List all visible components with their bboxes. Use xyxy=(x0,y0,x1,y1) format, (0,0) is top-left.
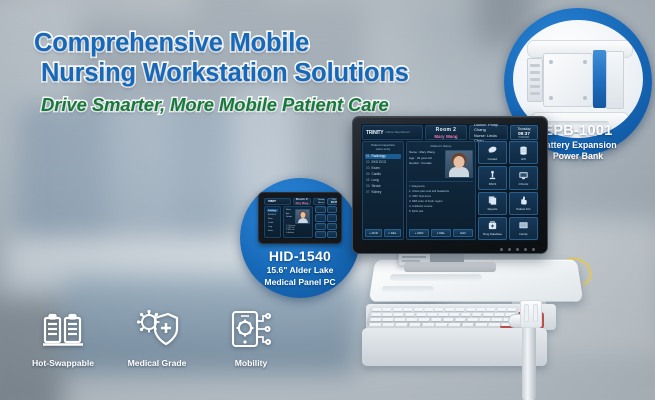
feature-label: Hot-Swappable xyxy=(32,358,94,368)
pill-bag-icon xyxy=(487,220,498,231)
headline-block: Comprehensive Mobile Nursing Workstation… xyxy=(34,28,454,116)
tile-drug-database[interactable]: Drug Database xyxy=(478,217,507,240)
product-desc-line-2: Medical Panel PC xyxy=(234,277,366,288)
history-del-button[interactable]: x DEL xyxy=(431,229,451,237)
product-badge-hid-1540: TRINITY Room 2 Mary Wang DoctorNurse Thu… xyxy=(240,178,360,298)
list-item[interactable]: 05Lung xyxy=(365,178,401,183)
history-add-button[interactable]: + ADD xyxy=(409,229,429,237)
staff-panel: Doctor: Philip Chang Nurse: Linda Chen xyxy=(469,125,508,140)
module-tile-grid: Contact HIS PACS Chronic xyxy=(478,141,538,240)
row-label: Lung xyxy=(372,178,379,182)
headline-subtitle: Drive Smarter, More Mobile Patient Care xyxy=(41,94,454,116)
product-code: HID-1540 xyxy=(234,248,366,264)
patient-photo xyxy=(445,150,473,178)
feature-medical-grade: Medical Grade xyxy=(121,306,193,368)
battery-module xyxy=(593,50,606,108)
row-number: 01 xyxy=(366,154,370,158)
virus-shield-icon xyxy=(135,306,179,352)
row-label: Kidney xyxy=(372,190,382,194)
tile-label: Contact xyxy=(488,157,498,161)
tile-reports[interactable]: Reports xyxy=(478,192,507,215)
microscope-icon xyxy=(487,170,498,181)
list-item[interactable]: 07Kidney xyxy=(365,190,401,195)
cart-drawer-base xyxy=(362,328,547,366)
room-number: Room 2 xyxy=(436,127,457,133)
row-label: Exam xyxy=(372,166,380,170)
marketing-banner: Comprehensive Mobile Nursing Workstation… xyxy=(0,0,655,400)
patient-field: Gender : Female xyxy=(409,161,442,165)
feature-label: Medical Grade xyxy=(128,358,187,368)
list-item[interactable]: 06Stroke xyxy=(365,184,401,189)
tile-chronic[interactable]: Chronic xyxy=(509,166,538,189)
clock-widget: Thursday 09:37 5/10/2021 xyxy=(510,125,538,140)
list-item[interactable]: 01Radiology xyxy=(365,154,401,159)
patient-field: Age : 32 year old xyxy=(409,156,442,160)
monitor-bezel: TRINITY Carbon Steel Record Room 2 Mary … xyxy=(352,116,548,254)
order-header-line-2: order entry xyxy=(365,148,401,152)
tile-label: Chronic xyxy=(519,182,529,186)
row-number: 05 xyxy=(366,178,370,182)
row-number: 07 xyxy=(366,190,370,194)
row-number: 02 xyxy=(366,160,370,164)
ui-header: TRINITY Carbon Steel Record Room 2 Mary … xyxy=(361,124,539,141)
diagnosis-item: 5. EKG test xyxy=(409,209,473,213)
tile-label: Patient Info xyxy=(516,207,530,211)
headline-line-1: Comprehensive Mobile xyxy=(34,28,454,58)
list-item[interactable]: 04Cardio xyxy=(365,172,401,177)
logo-tagline: Carbon Steel Record xyxy=(385,131,409,134)
diagnosis-item: 4. Antibiotic course xyxy=(409,204,473,208)
room-panel: Room 2 Mary Wang xyxy=(425,125,467,140)
patient-field: Name : Mary Wang xyxy=(409,150,442,154)
tile-label: Family xyxy=(519,232,527,236)
tablet-gear-icon xyxy=(229,306,273,352)
patient-history-panel: Patient's history Name : Mary Wang Age :… xyxy=(406,141,476,240)
tile-label: Drug Database xyxy=(483,232,502,236)
doctor-name: Doctor: Philip Chang xyxy=(474,124,507,132)
feature-hot-swappable: Hot-Swappable xyxy=(27,306,99,368)
row-number: 06 xyxy=(366,184,370,188)
patient-name: Mary Wang xyxy=(434,134,457,139)
patient-fields: Name : Mary Wang Age : 32 year old Gende… xyxy=(409,150,442,178)
hid-screen-preview: TRINITY Room 2 Mary Wang DoctorNurse Thu… xyxy=(263,197,337,239)
tile-label: HIS xyxy=(521,157,526,161)
order-del-button[interactable]: x DEL xyxy=(384,229,401,237)
diagnosis-header: > Diagnosis xyxy=(409,181,473,188)
ui-body: Patient Inspection order entry 01Radiolo… xyxy=(361,141,539,241)
feature-label: Mobility xyxy=(235,358,267,368)
tile-patient-info[interactable]: Patient Info xyxy=(509,192,538,215)
dual-battery-icon xyxy=(42,306,84,352)
contact-icon xyxy=(487,145,498,156)
row-label: Stroke xyxy=(372,184,381,188)
list-item[interactable]: 02EKG ECG xyxy=(365,160,401,165)
monitor-buttons[interactable] xyxy=(500,248,535,251)
order-entry-header: Patient Inspection order entry xyxy=(365,144,401,152)
order-add-button[interactable]: + ADD xyxy=(365,229,382,237)
monitor-icon xyxy=(518,170,529,181)
history-header: Patient's history xyxy=(409,144,473,148)
history-edit-button[interactable]: Edit xyxy=(453,229,473,237)
tile-pacs[interactable]: PACS xyxy=(478,166,507,189)
row-label: EKG ECG xyxy=(372,160,387,164)
list-item[interactable]: 03Exam xyxy=(365,166,401,171)
tile-label: Reports xyxy=(488,207,498,211)
hid-panel-pc-photo: TRINITY Room 2 Mary Wang DoctorNurse Thu… xyxy=(258,192,342,244)
monitor-arm xyxy=(404,262,496,272)
clock-date: 5/10/2021 xyxy=(518,136,529,139)
logo-wordmark: TRINITY xyxy=(366,130,383,136)
hand-icon xyxy=(518,195,529,206)
panel-pc-monitor: TRINITY Carbon Steel Record Room 2 Mary … xyxy=(352,116,548,254)
feature-list: Hot-Swappable xyxy=(27,306,287,368)
folder-icon xyxy=(518,220,529,231)
diagnosis-item: 1. Chest pain and dull headache xyxy=(409,189,473,193)
product-desc-line-1: 15.6" Alder Lake xyxy=(234,265,366,276)
tile-family[interactable]: Family xyxy=(509,217,538,240)
row-number: 04 xyxy=(366,172,370,176)
order-actions: + ADD x DEL xyxy=(365,229,401,237)
app-logo: TRINITY Carbon Steel Record xyxy=(362,125,423,140)
diagnosis-list: 1. Chest pain and dull headache 2. CBC T… xyxy=(409,189,473,228)
headline-line-2: Nursing Workstation Solutions xyxy=(41,58,454,88)
tile-label: PACS xyxy=(489,182,496,186)
tile-his[interactable]: HIS xyxy=(509,141,538,164)
row-label: Radiology xyxy=(372,154,386,158)
accessory-holder xyxy=(520,300,542,328)
feature-mobility: Mobility xyxy=(215,306,287,368)
medical-software-ui: TRINITY Carbon Steel Record Room 2 Mary … xyxy=(361,124,539,241)
diagnosis-item: 2. CBC Test done xyxy=(409,194,473,198)
order-entry-panel: Patient Inspection order entry 01Radiolo… xyxy=(362,141,404,240)
database-icon xyxy=(518,145,529,156)
history-actions: + ADD x DEL Edit xyxy=(409,229,473,237)
documents-icon xyxy=(487,195,498,206)
tile-contact[interactable]: Contact xyxy=(478,141,507,164)
row-number: 03 xyxy=(366,166,370,170)
diagnosis-item: 3. MRI scan of brain region xyxy=(409,199,473,203)
row-label: Cardio xyxy=(372,172,381,176)
keyboard[interactable] xyxy=(366,306,520,326)
order-list: 01Radiology 02EKG ECG 03Exam 04Cardio 05… xyxy=(365,154,401,228)
